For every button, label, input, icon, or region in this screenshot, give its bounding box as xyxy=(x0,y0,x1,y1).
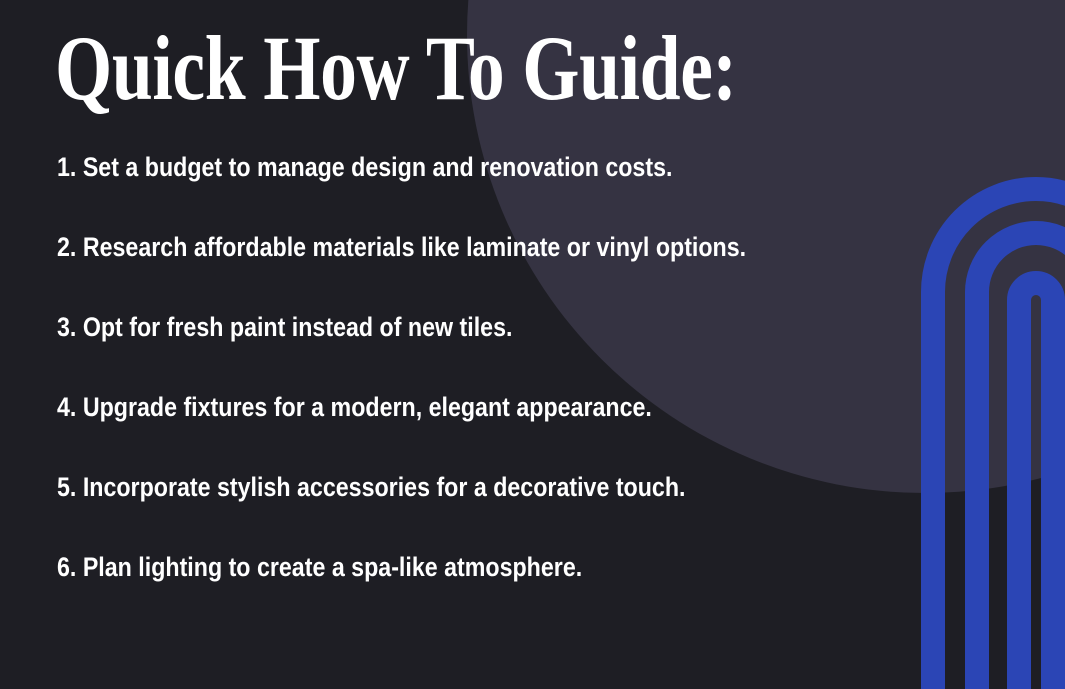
list-item: 1. Set a budget to manage design and ren… xyxy=(57,152,937,232)
step-text: 3. Opt for fresh paint instead of new ti… xyxy=(57,312,512,342)
list-item: 4. Upgrade fixtures for a modern, elegan… xyxy=(57,392,937,472)
step-text: 1. Set a budget to manage design and ren… xyxy=(57,152,672,182)
slide-content: Quick How To Guide: 1. Set a budget to m… xyxy=(0,0,1065,689)
how-to-steps-list: 1. Set a budget to manage design and ren… xyxy=(57,152,937,632)
list-item: 5. Incorporate stylish accessories for a… xyxy=(57,472,937,552)
step-text: 6. Plan lighting to create a spa-like at… xyxy=(57,552,582,582)
list-item: 3. Opt for fresh paint instead of new ti… xyxy=(57,312,937,392)
list-item: 6. Plan lighting to create a spa-like at… xyxy=(57,552,937,632)
step-text: 5. Incorporate stylish accessories for a… xyxy=(57,472,685,502)
list-item: 2. Research affordable materials like la… xyxy=(57,232,937,312)
slide-canvas: Quick How To Guide: 1. Set a budget to m… xyxy=(0,0,1065,689)
step-text: 4. Upgrade fixtures for a modern, elegan… xyxy=(57,392,652,422)
page-title: Quick How To Guide: xyxy=(55,22,737,114)
step-text: 2. Research affordable materials like la… xyxy=(57,232,746,262)
